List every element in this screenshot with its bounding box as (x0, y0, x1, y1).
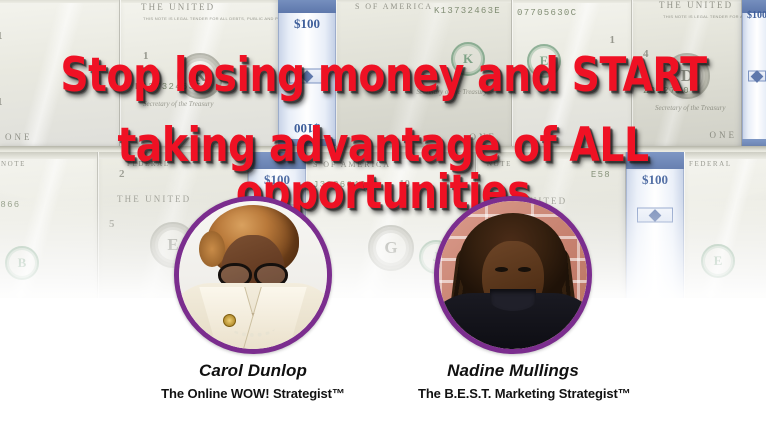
lapel-pin (223, 314, 236, 327)
headline-line-1: Stop losing money and START (0, 52, 766, 99)
carol-dunlop-headshot (179, 201, 327, 349)
presenter-list: Carol Dunlop The Online WOW! Strategist™ (0, 196, 766, 401)
presenter-tagline: The B.E.S.T. Marketing Strategist™ (418, 386, 608, 401)
portrait-illustration (179, 201, 327, 349)
presenter-tagline: The Online WOW! Strategist™ (158, 386, 348, 401)
promo-banner: 1 1 ONE THE UNITED THIS NOTE IS LEGAL TE… (0, 0, 766, 425)
eye (518, 267, 531, 272)
avatar (174, 196, 332, 354)
portrait-illustration (439, 201, 587, 349)
avatar (434, 196, 592, 354)
nadine-mullings-headshot (439, 201, 587, 349)
presenter-nadine-mullings: Nadine Mullings The B.E.S.T. Marketing S… (418, 196, 608, 401)
presenter-carol-dunlop: Carol Dunlop The Online WOW! Strategist™ (158, 196, 348, 401)
shirt-collar (490, 289, 536, 311)
eye (495, 267, 508, 272)
presenter-name: Carol Dunlop (158, 361, 348, 381)
eyeglasses-icon (218, 263, 288, 282)
presenter-name: Nadine Mullings (418, 361, 608, 381)
headline-line-1-text: Stop losing money and START (60, 52, 706, 99)
necklace (231, 319, 275, 337)
